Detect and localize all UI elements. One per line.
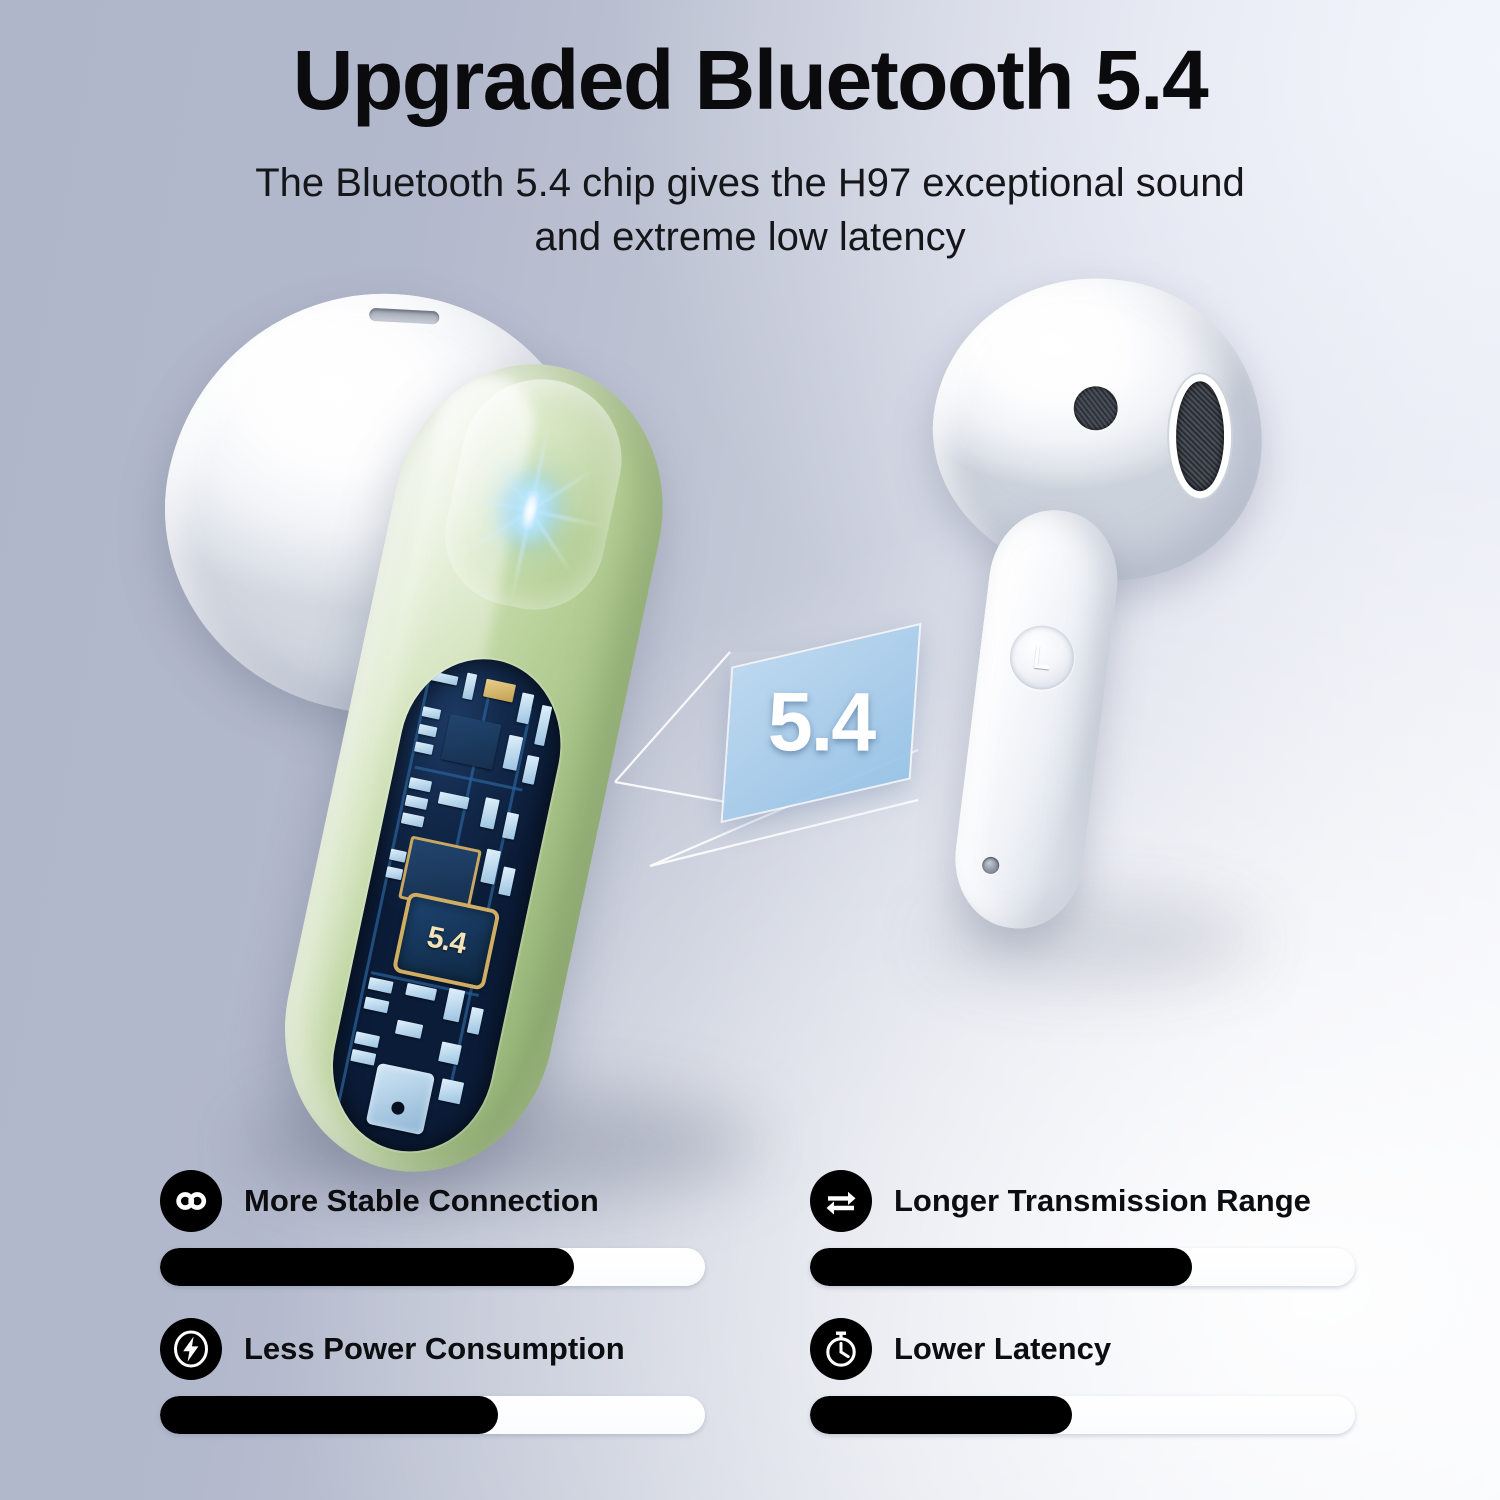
progress-bar-track: [160, 1396, 705, 1434]
right-earbud-white: L: [860, 259, 1360, 985]
progress-bar-track: [810, 1396, 1355, 1434]
microphone-hole-icon: [981, 856, 1000, 875]
progress-bar-fill: [810, 1396, 1072, 1434]
led-indicator-icon: [502, 482, 559, 539]
power-bolt-icon: [160, 1318, 222, 1380]
feature-label: Less Power Consumption: [244, 1331, 625, 1367]
earbud-slot: [369, 308, 440, 325]
product-feature-banner: Upgraded Bluetooth 5.4 The Bluetooth 5.4…: [0, 0, 1500, 1500]
callout-badge-text: 5.4: [768, 675, 874, 771]
stopwatch-icon: [810, 1318, 872, 1380]
bluetooth-chip-54: 5.4: [396, 896, 496, 986]
right-earbud-stem: L: [947, 503, 1125, 935]
progress-bar-track: [160, 1248, 705, 1286]
pcb-bottom-pad: [366, 1063, 436, 1136]
chip-label: 5.4: [424, 920, 469, 961]
feature-less-power-consumption: Less Power Consumption: [160, 1316, 705, 1434]
progress-bar-track: [810, 1248, 1355, 1286]
feature-label: Longer Transmission Range: [894, 1183, 1311, 1219]
progress-bar-fill: [160, 1396, 498, 1434]
feature-label: Lower Latency: [894, 1331, 1111, 1367]
feature-label: More Stable Connection: [244, 1183, 599, 1219]
left-channel-letter: L: [1030, 637, 1054, 678]
infinity-icon: [160, 1170, 222, 1232]
speaker-grille-icon: [1176, 381, 1224, 491]
feature-more-stable-connection: More Stable Connection: [160, 1168, 705, 1286]
feature-list: More Stable Connection Longer Transmissi…: [160, 1168, 1350, 1434]
transfer-arrows-icon: [810, 1170, 872, 1232]
feature-lower-latency: Lower Latency: [810, 1316, 1355, 1434]
left-channel-marking: L: [1006, 622, 1077, 693]
feature-longer-transmission-range: Longer Transmission Range: [810, 1168, 1355, 1286]
progress-bar-fill: [160, 1248, 574, 1286]
vent-port-icon: [1071, 384, 1120, 433]
progress-bar-fill: [810, 1248, 1192, 1286]
